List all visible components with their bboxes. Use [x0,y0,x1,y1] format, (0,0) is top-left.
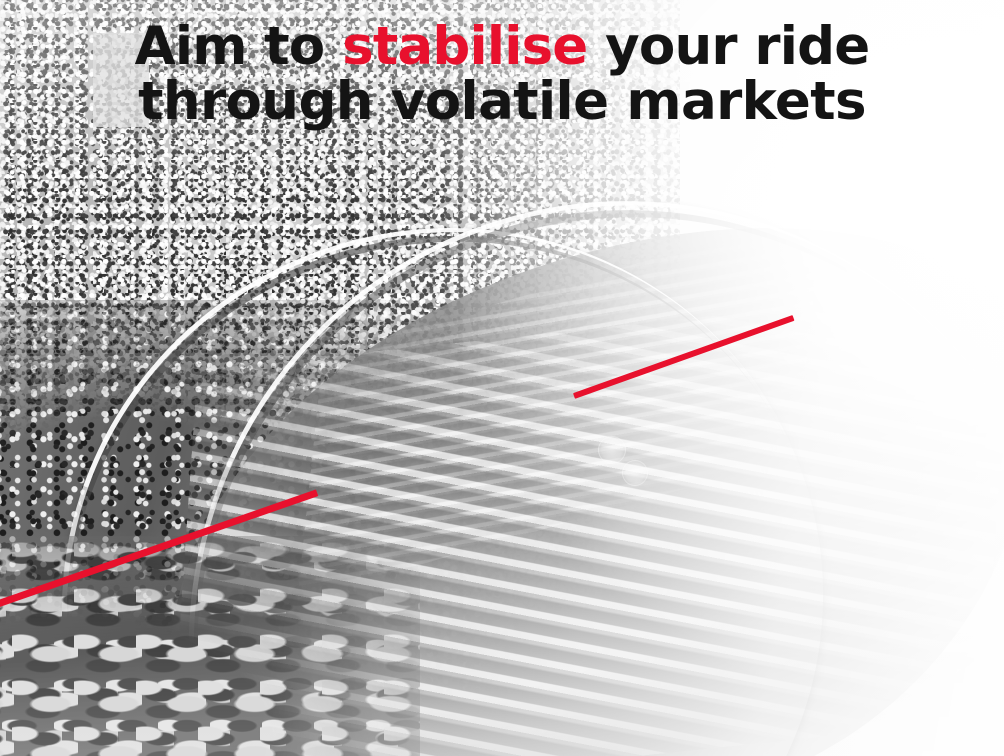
headline-line-2: through volatile markets [0,73,1004,130]
foreground-foliage [0,536,420,756]
headline-accent-word: stabilise [342,16,587,77]
bokeh-highlight-2 [622,460,648,486]
presentation-banner: Aim to stabilise your ride through volat… [0,0,1004,756]
headline: Aim to stabilise your ride through volat… [0,18,1004,130]
headline-line-1: Aim to stabilise your ride [0,18,1004,75]
headline-text-before: Aim to [135,16,342,77]
bokeh-highlight-1 [598,436,626,464]
headline-text-after: your ride [587,16,869,77]
